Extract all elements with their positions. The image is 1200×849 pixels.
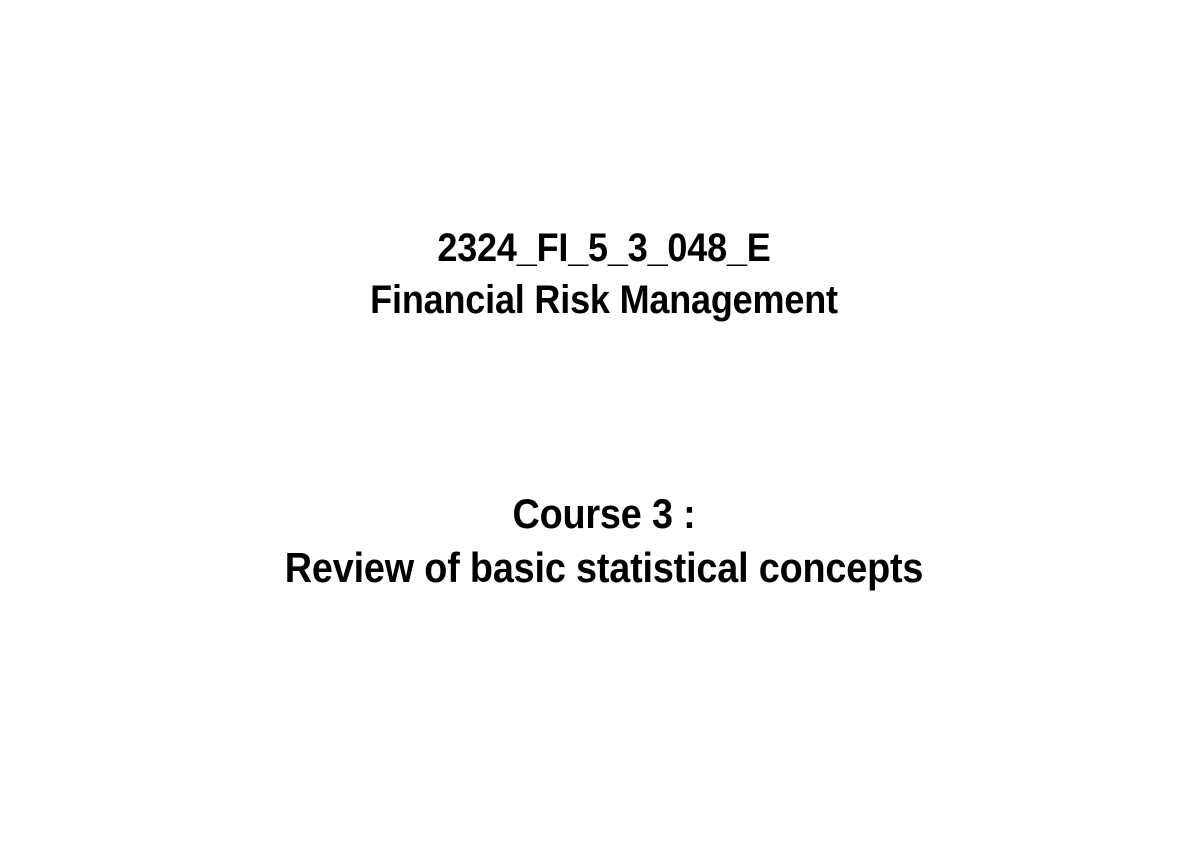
slide-page: 2324_FI_5_3_048_E Financial Risk Managem… bbox=[0, 0, 1200, 849]
course-name-line: Financial Risk Management bbox=[114, 274, 1093, 326]
course-code-line: 2324_FI_5_3_048_E bbox=[114, 222, 1093, 274]
course-topic-line: Review of basic statistical concepts bbox=[114, 541, 1093, 595]
slide-content: 2324_FI_5_3_048_E Financial Risk Managem… bbox=[0, 0, 1200, 849]
course-number-line: Course 3 : bbox=[114, 487, 1093, 541]
slide-subtitle: Course 3 : Review of basic statistical c… bbox=[60, 487, 1148, 595]
slide-title: 2324_FI_5_3_048_E Financial Risk Managem… bbox=[60, 222, 1148, 326]
